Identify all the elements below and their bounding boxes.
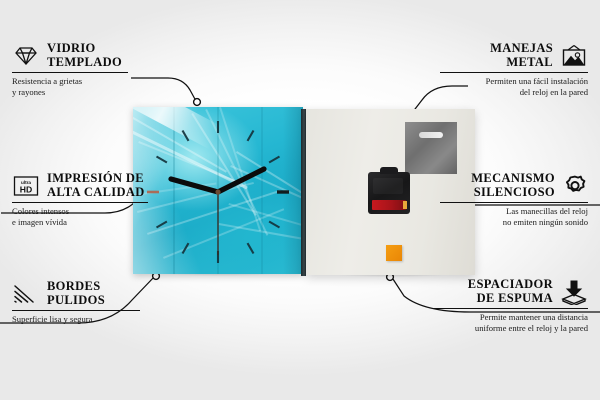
feature-description: Superficie lisa y segura [12,314,144,325]
quartz-mechanism [368,172,410,214]
metal-hanger-plate [405,122,457,174]
diamond-icon [12,45,40,67]
feature-description: Permiten una fácil instalación del reloj… [440,76,588,97]
foam-spacer [386,245,402,261]
feature-rule [440,202,588,203]
hanger-slot [419,132,443,138]
connector-dot-vidrio-templado [194,99,201,106]
svg-text:HD: HD [20,184,32,194]
polished-edge-icon [12,283,40,305]
clock-front-panel [133,107,303,274]
clock-minute-hand [218,169,264,192]
ultra-hd-icon: ultra HD [12,175,40,197]
feature-rule [12,72,128,73]
feature-title: MECANISMO SILENCIOSO [471,172,555,199]
connector-vidrio-templado [131,78,196,101]
feature-description: Permite mantener una distancia uniforme … [432,312,588,333]
clock-center-cap [215,189,220,194]
feature-title: MANEJAS METAL [490,42,553,69]
battery-terminal [403,201,407,209]
feature-title: BORDES PULIDOS [47,280,105,307]
feature-rule [432,308,588,309]
picture-hanger-icon [560,44,588,68]
feature-bordes-pulidos: BORDES PULIDOS Superficie lisa y segura [12,280,144,325]
feature-rule [440,72,588,73]
feature-impresion-alta-calidad: ultra HD IMPRESIÓN DE ALTA CALIDAD Color… [12,172,152,227]
feature-title: VIDRIO TEMPLADO [47,42,122,69]
feature-mecanismo-silencioso: MECANISMO SILENCIOSO Las manecillas del … [440,172,588,227]
feature-title: IMPRESIÓN DE ALTA CALIDAD [47,172,145,199]
feature-title: ESPACIADOR DE ESPUMA [468,278,553,305]
feature-manejas-metal: MANEJAS METAL Permiten una fácil instala… [440,42,588,97]
gear-icon [562,174,588,198]
feature-description: Las manecillas del reloj no emiten ningú… [440,206,588,227]
feature-rule [12,202,148,203]
clock-hour-hand [171,179,218,192]
battery [372,200,406,210]
feature-rule [12,310,140,311]
foam-spacer-icon [560,279,588,305]
mechanism-tab [380,167,398,174]
feature-description: Colores intensos e imagen vívida [12,206,152,227]
infographic-canvas: VIDRIO TEMPLADO Resistencia a grietas y … [0,0,600,400]
feature-vidrio-templado: VIDRIO TEMPLADO Resistencia a grietas y … [12,42,140,97]
clock-face [133,107,303,274]
feature-description: Resistencia a grietas y rayones [12,76,140,97]
feature-espaciador-de-espuma: ESPACIADOR DE ESPUMA Permite mantener un… [432,278,588,333]
